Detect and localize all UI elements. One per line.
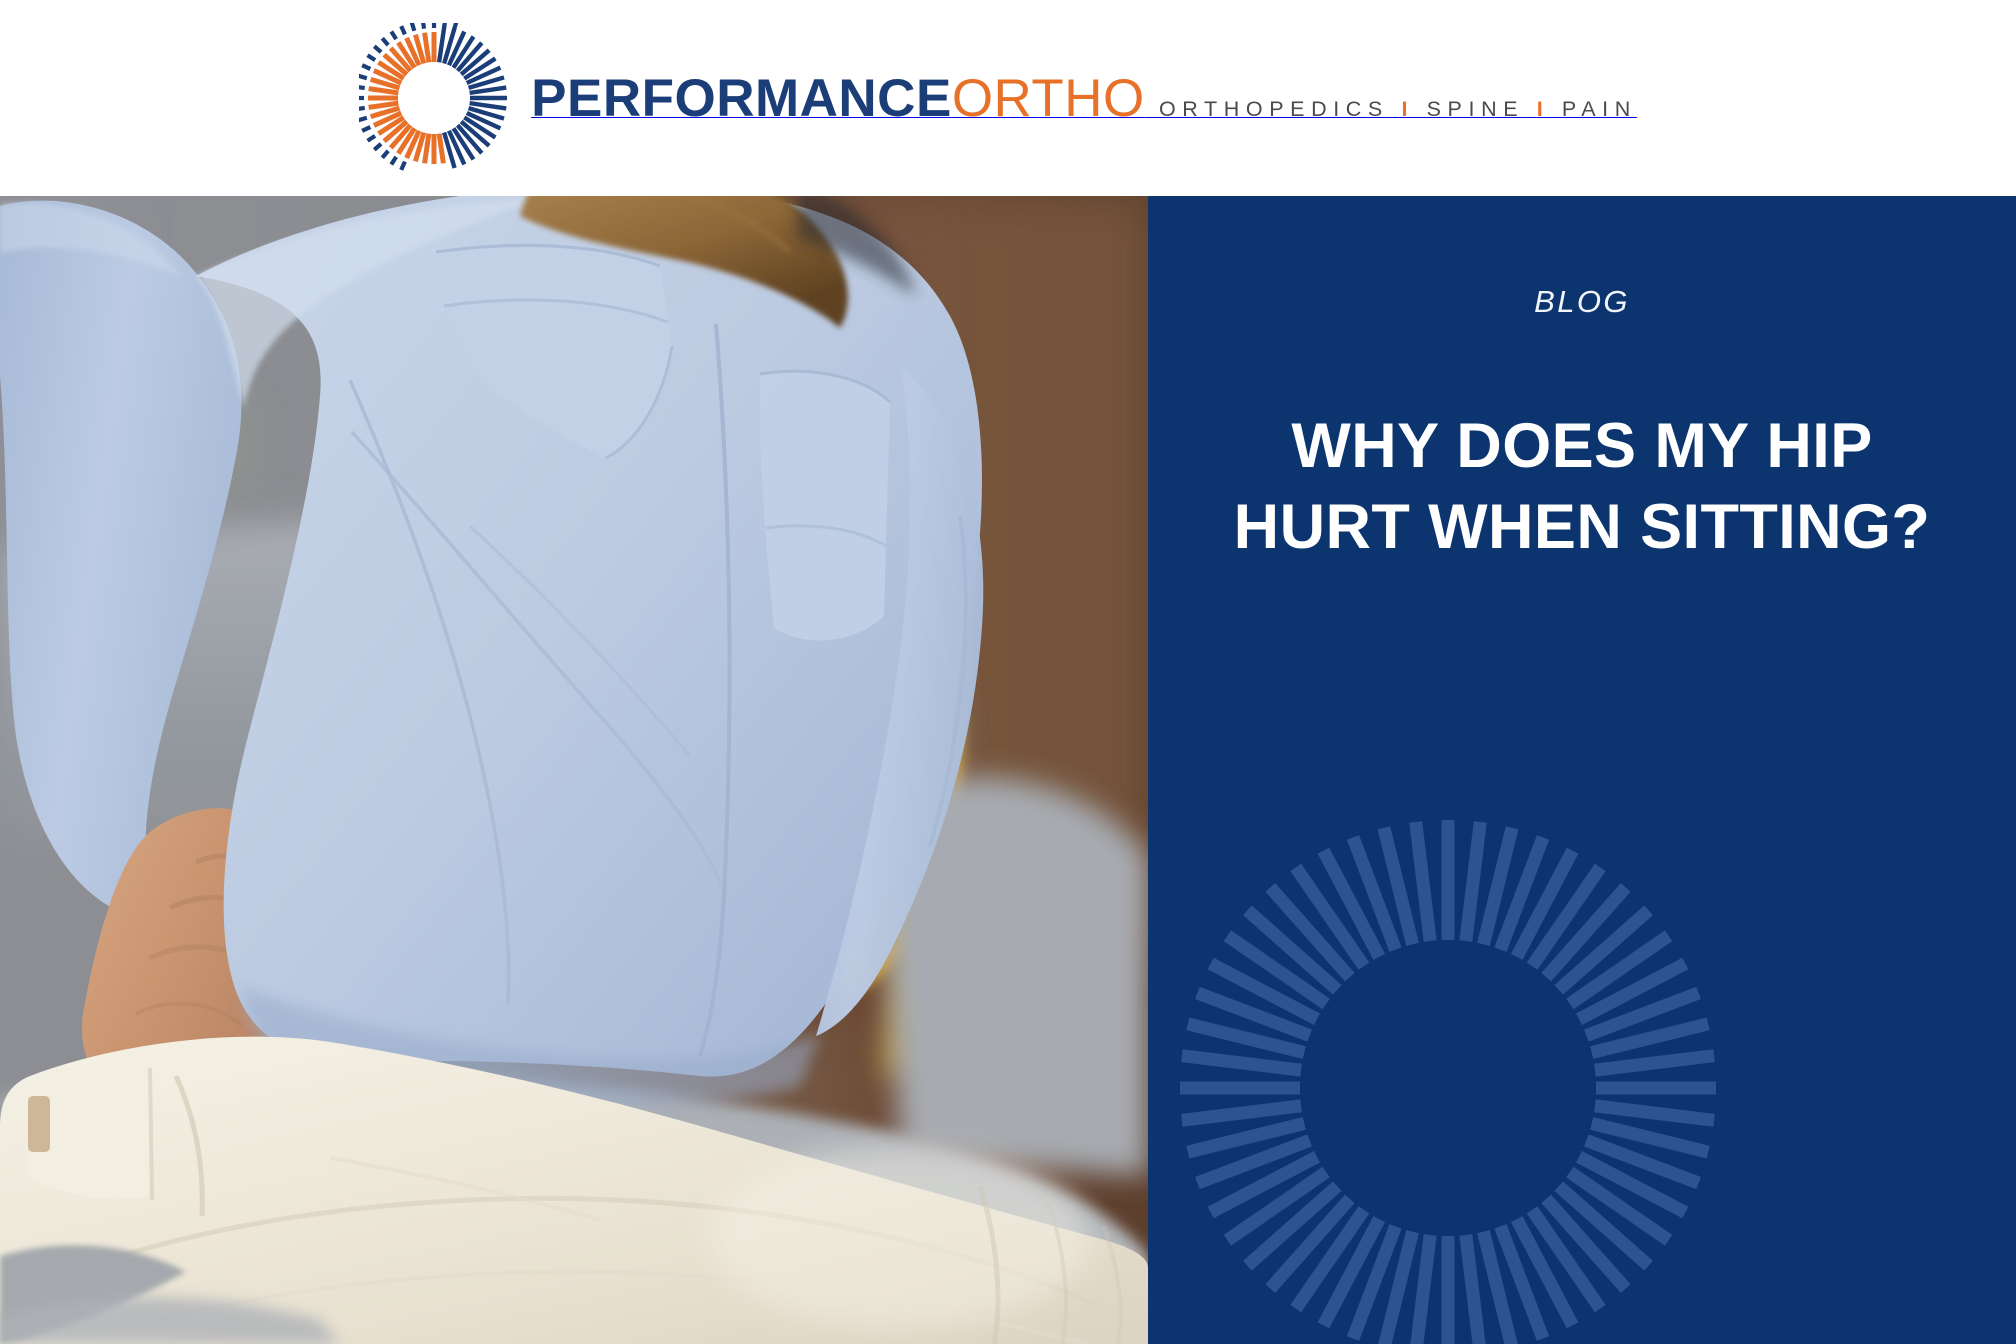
tagline-spine: SPINE xyxy=(1427,97,1525,121)
hero-text-panel: BLOG WHY DOES MY HIP HURT WHEN SITTING? xyxy=(1148,196,2016,1344)
site-logo-link[interactable]: PERFORMANCEORTHO ORTHOPEDICS I SPINE I P… xyxy=(359,23,1637,173)
tagline-orthopedics: ORTHOPEDICS xyxy=(1159,97,1389,121)
logo-text-block: PERFORMANCEORTHO ORTHOPEDICS I SPINE I P… xyxy=(531,72,1637,125)
logo-wordmark-primary: PERFORMANCE xyxy=(531,69,952,128)
logo-wordmark-secondary: ORTHO xyxy=(952,69,1145,128)
radial-starburst-watermark-icon xyxy=(1168,808,1728,1344)
eyebrow-label: BLOG xyxy=(1148,284,2016,320)
tagline-separator-1: I xyxy=(1401,97,1414,121)
radial-starburst-icon xyxy=(359,23,509,173)
panel-content: BLOG WHY DOES MY HIP HURT WHEN SITTING? xyxy=(1148,196,2016,567)
logo-wordmark: PERFORMANCEORTHO xyxy=(531,69,1159,128)
logo-tagline: ORTHOPEDICS I SPINE I PAIN xyxy=(1159,97,1637,121)
hero-banner: BLOG WHY DOES MY HIP HURT WHEN SITTING? xyxy=(0,196,2016,1344)
site-header: PERFORMANCEORTHO ORTHOPEDICS I SPINE I P… xyxy=(0,0,2016,196)
page-root: PERFORMANCEORTHO ORTHOPEDICS I SPINE I P… xyxy=(0,0,2016,1344)
page-title: WHY DOES MY HIP HURT WHEN SITTING? xyxy=(1232,406,1932,567)
hero-photo xyxy=(0,196,1148,1344)
tagline-pain: PAIN xyxy=(1562,97,1637,121)
tagline-separator-2: I xyxy=(1537,97,1550,121)
